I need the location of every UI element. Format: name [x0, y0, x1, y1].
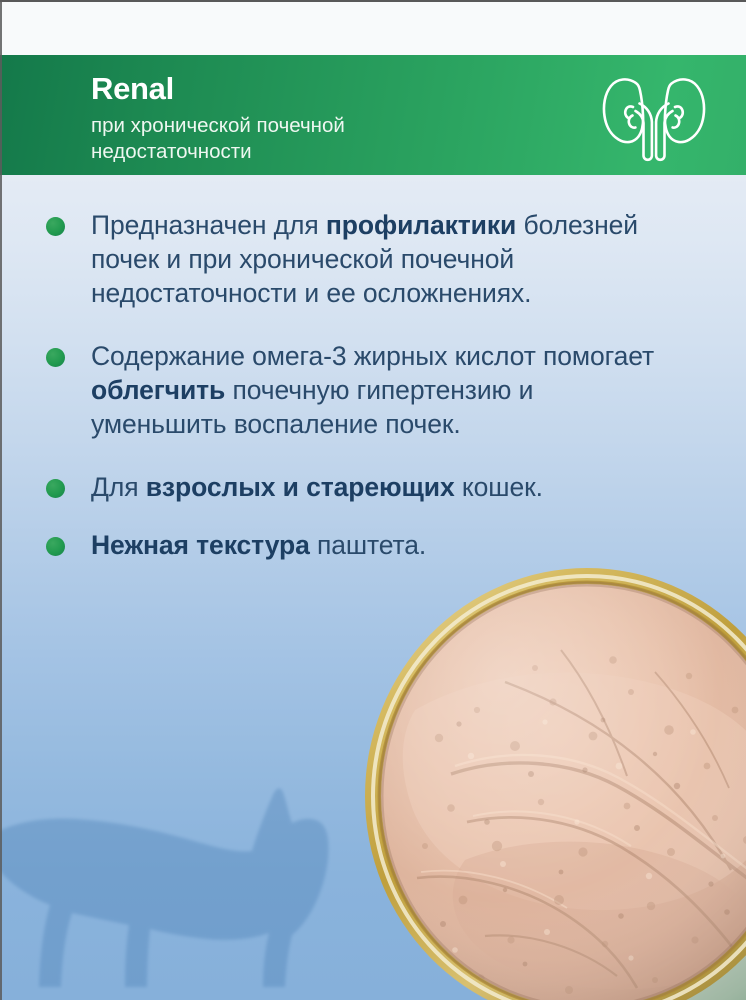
bullet-dot-icon — [46, 479, 65, 498]
list-item: Нежная текстура паштета. — [46, 528, 666, 562]
header-band: Renal при хронической почечной недостато… — [0, 55, 746, 175]
bullet-seg: Содержание омега-3 жирных кислот помогае… — [91, 341, 654, 371]
bullet-text-texture: Нежная текстура паштета. — [91, 528, 666, 562]
cat-silhouette-icon — [0, 745, 400, 995]
bullet-seg: кошек. — [455, 472, 543, 502]
bullet-seg-bold: облегчить — [91, 375, 225, 405]
page-title: Renal — [91, 73, 345, 106]
bullet-dot-icon — [46, 348, 65, 367]
bullet-dot-icon — [46, 537, 65, 556]
header-text-group: Renal при хронической почечной недостато… — [91, 73, 345, 165]
bullet-seg: Для — [91, 472, 146, 502]
left-edge-line — [0, 0, 2, 1000]
list-item: Содержание омега-3 жирных кислот помогае… — [46, 339, 666, 441]
top-edge-line — [0, 0, 746, 2]
bullet-seg-bold: Нежная текстура — [91, 530, 310, 560]
page-subtitle: при хронической почечной недостаточности — [91, 113, 345, 165]
bullet-text-prevention: Предназначен для профилактики болезней п… — [91, 208, 666, 310]
bullet-seg-bold: взрослых и стареющих — [146, 472, 455, 502]
bullet-text-age: Для взрослых и стареющих кошек. — [91, 470, 666, 504]
bullet-seg-bold: профилактики — [326, 210, 516, 240]
bullet-seg: паштета. — [310, 530, 426, 560]
bullet-seg: Предназначен для — [91, 210, 326, 240]
list-item: Для взрослых и стареющих кошек. — [46, 470, 666, 504]
feature-list: Предназначен для профилактики болезней п… — [46, 208, 666, 586]
bullet-text-omega3: Содержание омега-3 жирных кислот помогае… — [91, 339, 666, 441]
list-item: Предназначен для профилактики болезней п… — [46, 208, 666, 310]
promo-card: Renal при хронической почечной недостато… — [0, 0, 746, 1000]
bullet-dot-icon — [46, 217, 65, 236]
top-white-strip — [0, 2, 746, 55]
kidneys-icon — [600, 67, 708, 163]
product-photo-can-of-pate — [355, 560, 746, 1000]
